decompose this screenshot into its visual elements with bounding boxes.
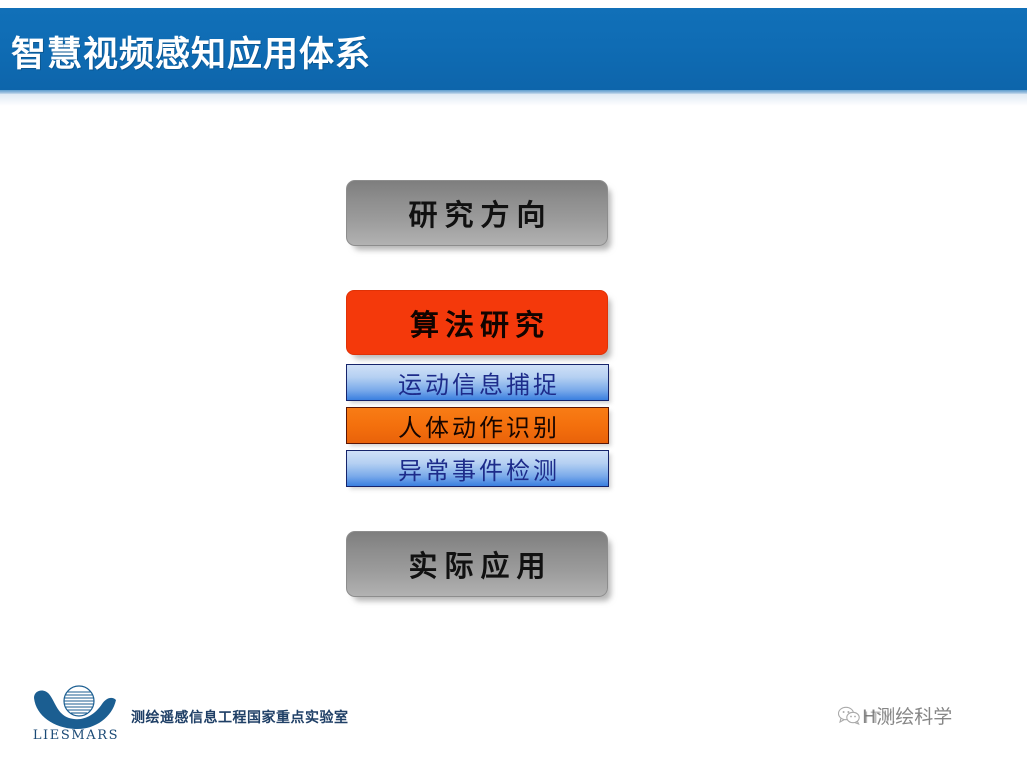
liesmars-wordmark: LIESMARS [30,728,122,743]
watermark-secondary-text: ITY. [864,708,898,727]
watermark-secondary: ITY. [864,708,898,727]
node-research-direction[interactable]: 研究方向 [346,180,608,246]
watermark: H测绘科学 ITY. [838,702,1024,736]
page-title: 智慧视频感知应用体系 [11,26,371,77]
slide-canvas: 智慧视频感知应用体系 研究方向 算法研究 运动信息捕捉 人体动作识别 异常事件检… [0,0,1027,765]
node-practical-application[interactable]: 实际应用 [346,531,608,597]
node-label: 实际应用 [401,543,552,585]
liesmars-logo-icon [32,684,120,732]
node-algorithm-research[interactable]: 算法研究 [346,290,608,355]
node-label: 研究方向 [401,192,552,234]
node-label: 人体动作识别 [395,408,560,443]
node-label: 算法研究 [404,302,550,344]
lab-name-label: 测绘遥感信息工程国家重点实验室 [131,707,349,727]
node-anomaly-detection[interactable]: 异常事件检测 [346,450,609,487]
header-fade [0,94,1027,106]
node-label: 异常事件检测 [395,451,560,486]
node-motion-capture[interactable]: 运动信息捕捉 [346,364,609,401]
node-label: 运动信息捕捉 [395,365,560,400]
node-action-recognition[interactable]: 人体动作识别 [346,407,609,444]
wechat-icon [838,706,860,725]
